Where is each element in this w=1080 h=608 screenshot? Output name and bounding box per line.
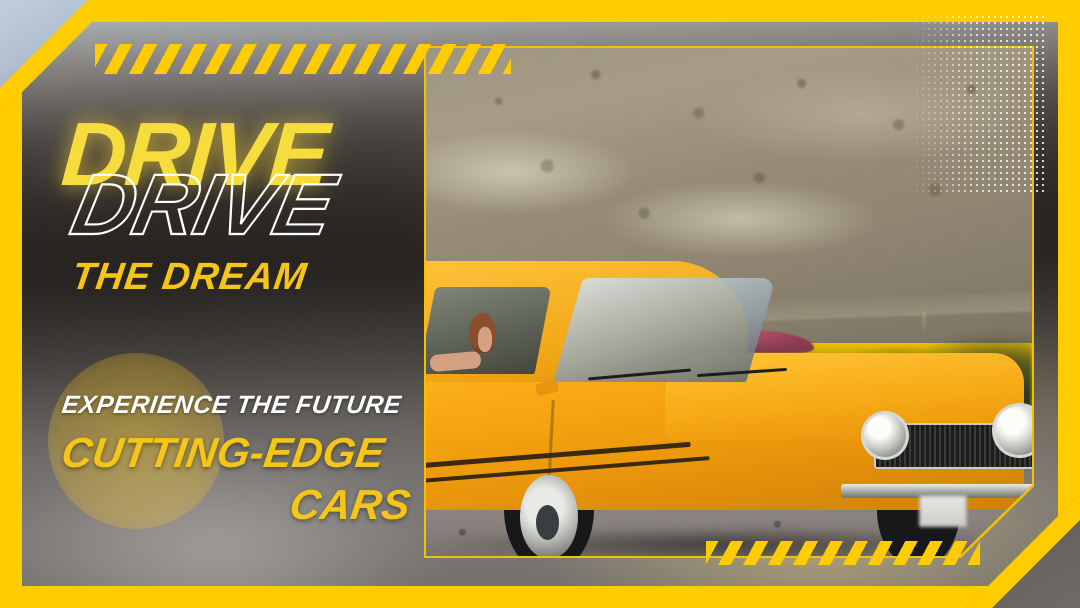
poster-canvas: DRIVE DRIVE THE DREAM EXPERIENCE THE FUT… [0,0,1080,608]
headline-drive-outline: DRIVE [65,162,341,248]
hazard-stripes-top [95,44,511,74]
subheadline-line-2: CARS [59,484,425,526]
driver-face [478,327,492,352]
frame-border-top [0,0,1080,22]
hazard-stripes-bottom [706,541,980,565]
car-headlight-inner [861,411,909,460]
subheadline-line-1: CUTTING-EDGE [59,432,425,474]
car-photo-image [426,48,1032,556]
car-license-plate [919,495,967,527]
subheadline-block: EXPERIENCE THE FUTURE CUTTING-EDGE CARS [62,392,422,526]
classic-car [426,266,1032,556]
car-photo-card [424,46,1034,558]
frame-border-bottom [0,586,1080,608]
headline-subtitle: THE DREAM [69,258,309,296]
subheadline-eyebrow: EXPERIENCE THE FUTURE [60,392,424,420]
car-windshield [553,278,776,382]
